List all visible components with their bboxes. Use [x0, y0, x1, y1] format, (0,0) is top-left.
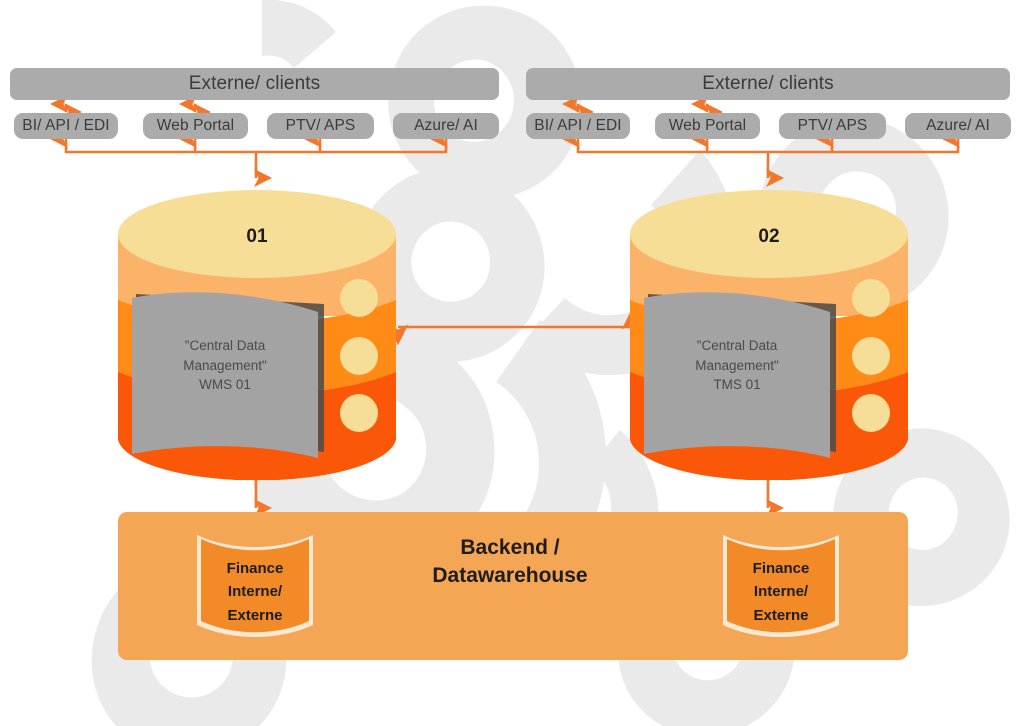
cylinder-01-doc-label: "Central Data Management" WMS 01 [132, 336, 318, 395]
client-label: Azure/ AI [414, 117, 478, 135]
group-01-client-ptv-aps[interactable]: PTV/ APS [267, 113, 374, 139]
cylinder-02-number: 02 [630, 226, 908, 248]
client-label: PTV/ APS [286, 117, 356, 135]
database-cylinder-02[interactable]: 02 "Central Data Management" TMS 01 [630, 190, 908, 480]
group-01-header-bar[interactable]: Externe/ clients [10, 68, 499, 100]
group-01-client-azure-ai[interactable]: Azure/ AI [393, 113, 499, 139]
group-01-client-bi-api-edi[interactable]: BI/ API / EDI [14, 113, 118, 139]
client-label: Azure/ AI [926, 117, 990, 135]
cylinder-02-doc-label: "Central Data Management" TMS 01 [644, 336, 830, 395]
finance-label-left: Finance Interne/ Externe [193, 557, 317, 627]
group-01-header-label: Externe/ clients [189, 73, 321, 95]
cylinder-01-number: 01 [118, 226, 396, 248]
diagram-canvas: Externe/ clients BI/ API / EDI Web Porta… [0, 0, 1024, 726]
group-02-client-azure-ai[interactable]: Azure/ AI [905, 113, 1011, 139]
group-02-header-bar[interactable]: Externe/ clients [526, 68, 1010, 100]
client-label: Web Portal [669, 117, 746, 135]
client-label: Web Portal [157, 117, 234, 135]
finance-label-right: Finance Interne/ Externe [719, 557, 843, 627]
client-label: BI/ API / EDI [534, 117, 621, 135]
group-01-client-web-portal[interactable]: Web Portal [143, 113, 248, 139]
group-02-client-bi-api-edi[interactable]: BI/ API / EDI [526, 113, 630, 139]
client-label: PTV/ APS [798, 117, 868, 135]
backend-title: Backend / Datawarehouse [300, 534, 720, 591]
group-02-client-ptv-aps[interactable]: PTV/ APS [779, 113, 886, 139]
group-02-client-web-portal[interactable]: Web Portal [655, 113, 760, 139]
client-label: BI/ API / EDI [22, 117, 109, 135]
group-02-header-label: Externe/ clients [702, 73, 834, 95]
database-cylinder-01[interactable]: 01 "Central Data Management" WMS 01 [118, 190, 396, 480]
